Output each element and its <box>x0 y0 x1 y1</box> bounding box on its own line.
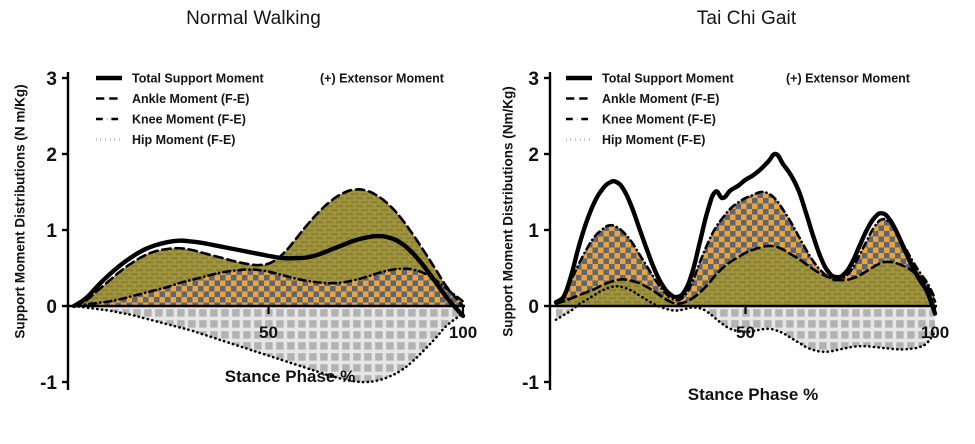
svg-text:3: 3 <box>528 69 539 90</box>
svg-text:1: 1 <box>46 221 57 242</box>
svg-text:0: 0 <box>528 297 539 318</box>
svg-text:Total Support Moment: Total Support Moment <box>132 72 265 86</box>
svg-text:Hip Moment (F-E): Hip Moment (F-E) <box>132 133 235 147</box>
chart-svg-tai-chi-gait: 3210-150100Stance Phase %Total Support M… <box>488 0 975 444</box>
plot-area-left: 3210-150100Stance Phase %Total Support M… <box>0 0 487 444</box>
svg-text:3: 3 <box>46 69 57 90</box>
svg-text:Ankle Moment (F-E): Ankle Moment (F-E) <box>132 92 249 106</box>
svg-text:Ankle Moment (F-E): Ankle Moment (F-E) <box>602 92 719 106</box>
svg-text:(+) Extensor Moment: (+) Extensor Moment <box>786 72 911 86</box>
svg-text:100: 100 <box>449 323 477 342</box>
plot-area-right: 3210-150100Stance Phase %Total Support M… <box>488 0 975 444</box>
svg-text:100: 100 <box>921 323 949 342</box>
svg-text:2: 2 <box>46 145 57 166</box>
chart-svg-normal-walking: 3210-150100Stance Phase %Total Support M… <box>0 0 487 444</box>
svg-text:50: 50 <box>736 323 755 342</box>
svg-text:Total Support Moment: Total Support Moment <box>602 72 735 86</box>
chart-panel-normal-walking: Normal Walking Support Moment Distributi… <box>0 0 487 444</box>
svg-text:Knee Moment (F-E): Knee Moment (F-E) <box>132 113 246 127</box>
chart-panel-tai-chi-gait: Tai Chi Gait Support Moment Distribution… <box>488 0 975 444</box>
svg-text:1: 1 <box>528 221 539 242</box>
figure-root: Normal Walking Support Moment Distributi… <box>0 0 975 444</box>
svg-text:Hip Moment (F-E): Hip Moment (F-E) <box>602 133 705 147</box>
svg-text:Stance Phase %: Stance Phase % <box>688 385 818 404</box>
svg-text:0: 0 <box>46 297 57 318</box>
svg-text:-1: -1 <box>522 373 539 394</box>
svg-text:Stance Phase %: Stance Phase % <box>225 367 355 386</box>
svg-text:(+) Extensor Moment: (+) Extensor Moment <box>320 72 445 86</box>
svg-text:Knee Moment (F-E): Knee Moment (F-E) <box>602 113 716 127</box>
svg-text:-1: -1 <box>40 373 57 394</box>
svg-text:50: 50 <box>259 323 278 342</box>
svg-text:2: 2 <box>528 145 539 166</box>
